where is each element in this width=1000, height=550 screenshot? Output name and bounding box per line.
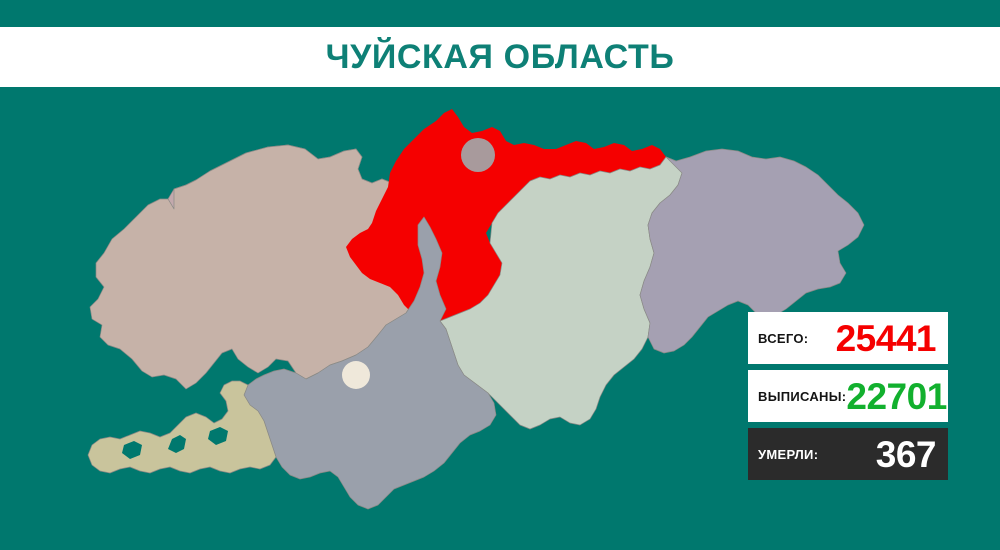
stat-row-total[interactable]: ВСЕГО: 25441 (748, 312, 948, 364)
title-band: ЧУЙСКАЯ ОБЛАСТЬ (0, 27, 1000, 87)
top-accent-bar (0, 0, 1000, 27)
stat-value-recovered: 22701 (846, 378, 946, 415)
bishkek-marker[interactable] (461, 138, 495, 172)
stat-label-total: ВСЕГО: (758, 331, 808, 346)
osh-city-marker[interactable] (342, 361, 370, 389)
stats-panel: ВСЕГО: 25441 ВЫПИСАНЫ: 22701 УМЕРЛИ: 367 (748, 312, 948, 480)
stat-label-deaths: УМЕРЛИ: (758, 447, 818, 462)
stat-value-total: 25441 (836, 320, 936, 357)
infographic-root: ЧУЙСКАЯ ОБЛАСТЬ (0, 0, 1000, 550)
page-title: ЧУЙСКАЯ ОБЛАСТЬ (326, 40, 675, 74)
stat-label-recovered: ВЫПИСАНЫ: (758, 389, 846, 404)
stat-value-deaths: 367 (876, 436, 936, 473)
stat-row-recovered[interactable]: ВЫПИСАНЫ: 22701 (748, 370, 948, 422)
stat-row-deaths[interactable]: УМЕРЛИ: 367 (748, 428, 948, 480)
